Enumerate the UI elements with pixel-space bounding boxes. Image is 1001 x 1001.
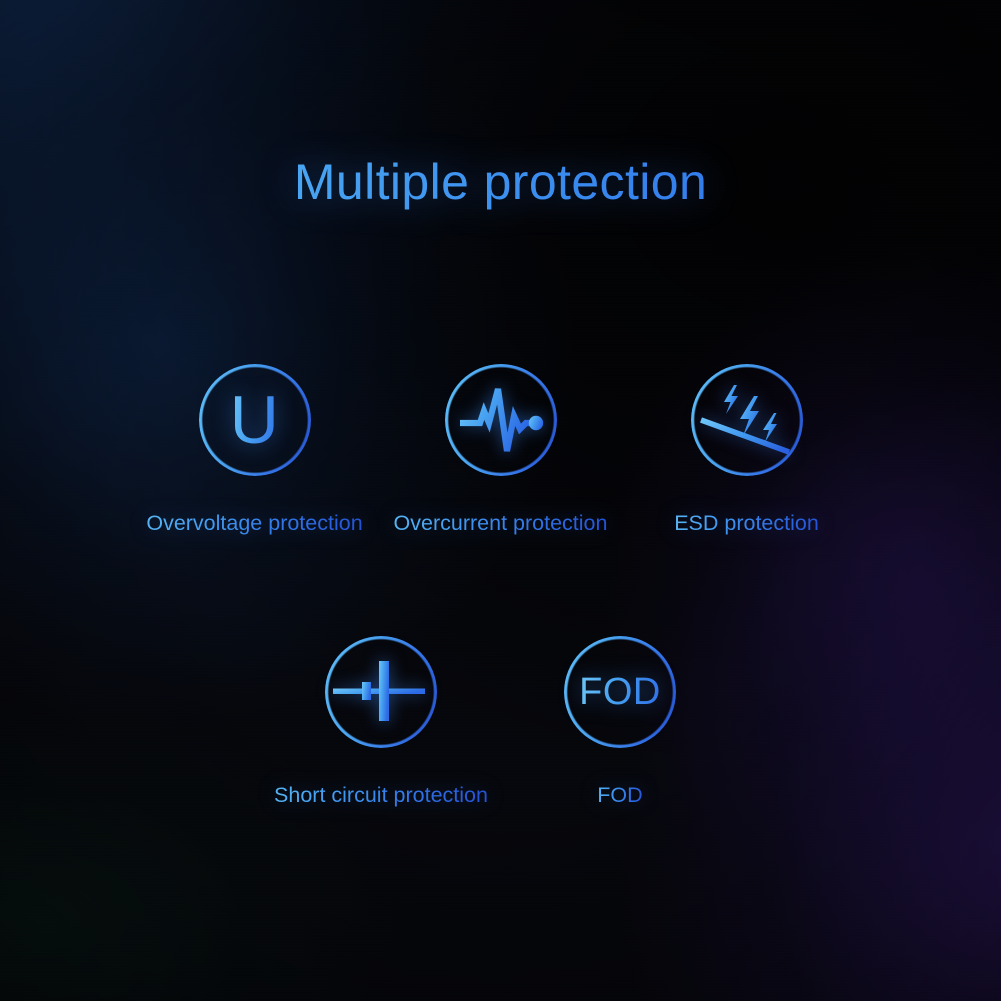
- esd-lightning-slash-icon: [693, 366, 801, 474]
- feature-row-primary: U Overvoltage protection: [0, 355, 1001, 536]
- icon-esd-wrapper: [682, 355, 812, 485]
- feature-row-secondary: Short circuit protection FOD FOD: [0, 627, 1001, 808]
- voltage-u-icon: U: [201, 366, 309, 474]
- pulse-waveform-icon: [447, 366, 555, 474]
- feature-label-overcurrent: Overcurrent protection: [394, 510, 608, 536]
- feature-item-esd[interactable]: ESD protection: [624, 355, 870, 536]
- feature-item-short-circuit[interactable]: Short circuit protection: [262, 627, 501, 808]
- icon-fod-wrapper: FOD: [555, 627, 685, 757]
- icon-overvoltage-wrapper: U: [190, 355, 320, 485]
- feature-label-overvoltage: Overvoltage protection: [146, 510, 362, 536]
- promo-banner: Multiple protection U Overvoltage protec…: [0, 0, 1001, 1001]
- feature-item-fod[interactable]: FOD FOD: [501, 627, 740, 808]
- icon-short-circuit-wrapper: [316, 627, 446, 757]
- feature-label-esd: ESD protection: [674, 510, 819, 536]
- fod-letters: FOD: [579, 673, 661, 711]
- battery-cell-icon: [327, 638, 435, 746]
- page-title: Multiple protection: [0, 152, 1001, 212]
- icon-overcurrent-wrapper: [436, 355, 566, 485]
- feature-item-overcurrent[interactable]: Overcurrent protection: [378, 355, 624, 536]
- feature-label-short-circuit: Short circuit protection: [274, 782, 488, 808]
- feature-label-fod: FOD: [597, 782, 642, 808]
- fod-text-icon: FOD: [566, 638, 674, 746]
- voltage-u-letter: U: [230, 386, 280, 454]
- feature-item-overvoltage[interactable]: U Overvoltage protection: [132, 355, 378, 536]
